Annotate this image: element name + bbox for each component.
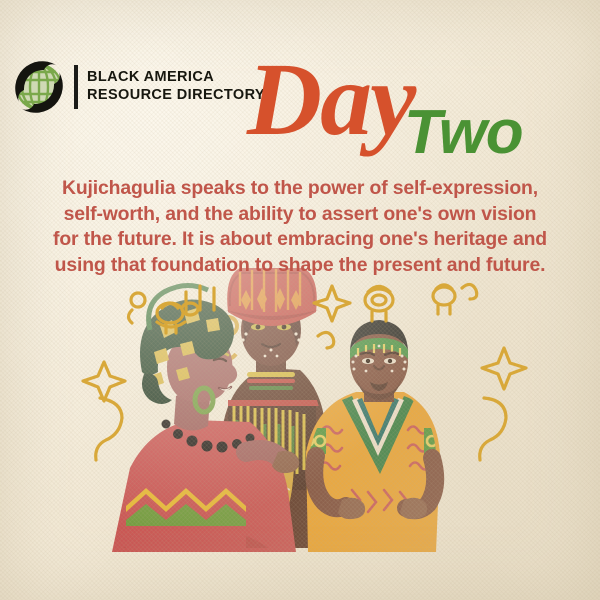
body-line-2: self-worth, and the ability to assert on… — [0, 202, 600, 228]
logo-wordmark: BLACK AMERICA RESOURCE DIRECTORY — [87, 69, 265, 104]
logo-line-2: RESOURCE DIRECTORY — [87, 87, 265, 105]
title-two: Two — [404, 102, 523, 164]
logo-divider — [74, 65, 78, 109]
body-line-1: Kujichagulia speaks to the power of self… — [0, 176, 600, 202]
title-day: Day — [247, 48, 414, 152]
title-block: Day Two — [243, 52, 593, 170]
globe-icon — [8, 56, 70, 118]
body-line-3: for the future. It is about embracing on… — [0, 227, 600, 253]
logo-line-1: BLACK AMERICA — [87, 69, 265, 87]
body-copy: Kujichagulia speaks to the power of self… — [0, 176, 600, 278]
brand-logo[interactable]: BLACK AMERICA RESOURCE DIRECTORY — [8, 56, 265, 118]
body-line-4: using that foundation to shape the prese… — [0, 253, 600, 279]
figure-right — [300, 320, 450, 552]
poster-canvas: BLACK AMERICA RESOURCE DIRECTORY Day Two… — [0, 0, 600, 600]
